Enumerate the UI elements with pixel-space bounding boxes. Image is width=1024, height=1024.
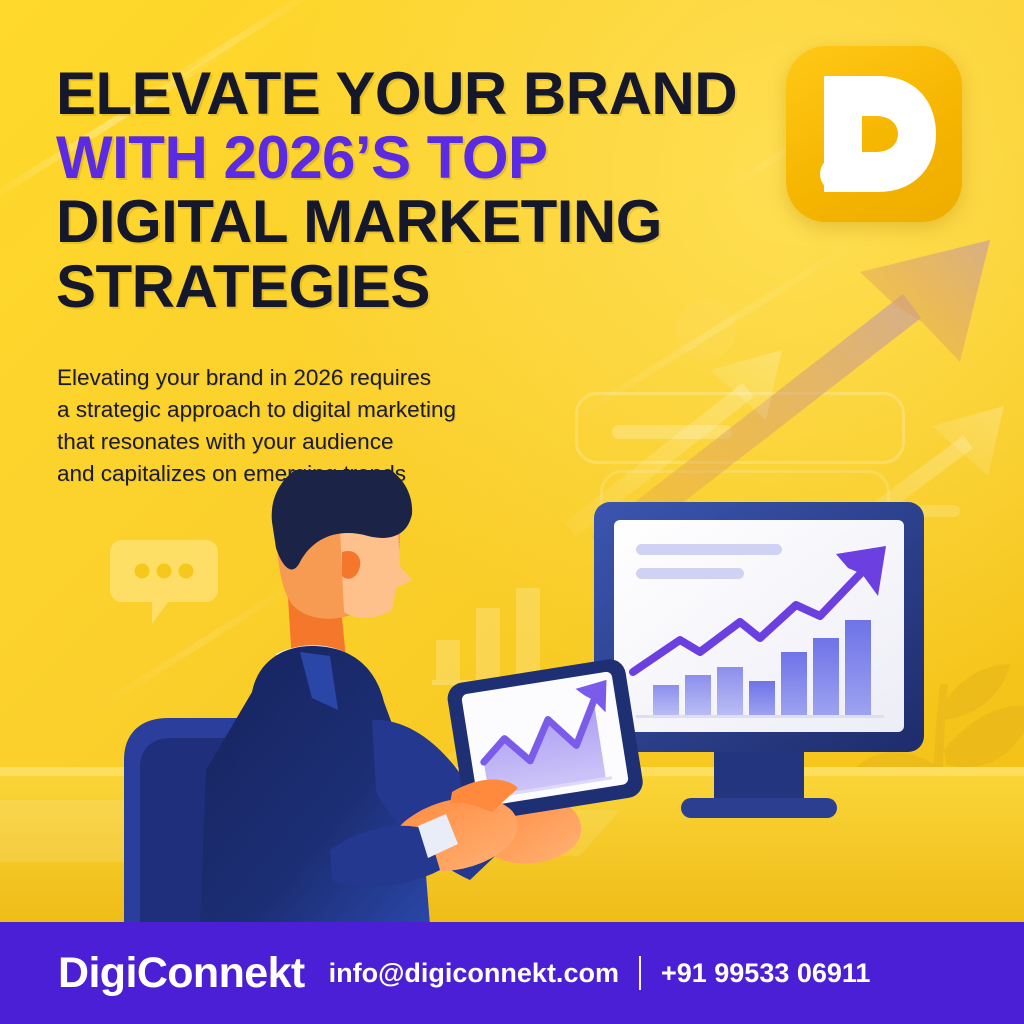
footer-contact: info@digiconnekt.com +91 99533 06911 xyxy=(329,956,871,990)
hero-illustration xyxy=(0,470,1024,925)
footer-divider xyxy=(639,956,641,990)
footer-email[interactable]: info@digiconnekt.com xyxy=(329,958,619,989)
subheadline-line-2: a strategic approach to digital marketin… xyxy=(57,394,617,426)
headline-line-3: DIGITAL MARKETING xyxy=(56,190,786,254)
headline-line-4: STRATEGIES xyxy=(56,255,786,319)
subheadline-line-1: Elevating your brand in 2026 requires xyxy=(57,362,617,394)
footer-brand-name: DigiConnekt xyxy=(58,949,305,998)
brand-logo[interactable] xyxy=(786,46,962,222)
footer-phone[interactable]: +91 99533 06911 xyxy=(661,958,870,989)
logo-d-mark xyxy=(786,46,962,222)
footer-bar: DigiConnekt info@digiconnekt.com +91 995… xyxy=(0,922,1024,1024)
poster-canvas: ELEVATE YOUR BRAND WITH 2026’S TOP DIGIT… xyxy=(0,0,1024,1024)
screen-placeholder-line-1 xyxy=(636,544,782,555)
headline: ELEVATE YOUR BRAND WITH 2026’S TOP DIGIT… xyxy=(56,62,786,319)
headline-line-2: WITH 2026’S TOP xyxy=(56,126,786,190)
subheadline-line-3: that resonates with your audience xyxy=(57,426,617,458)
screen-placeholder-line-2 xyxy=(636,568,744,579)
headline-line-1: ELEVATE YOUR BRAND xyxy=(56,62,786,126)
